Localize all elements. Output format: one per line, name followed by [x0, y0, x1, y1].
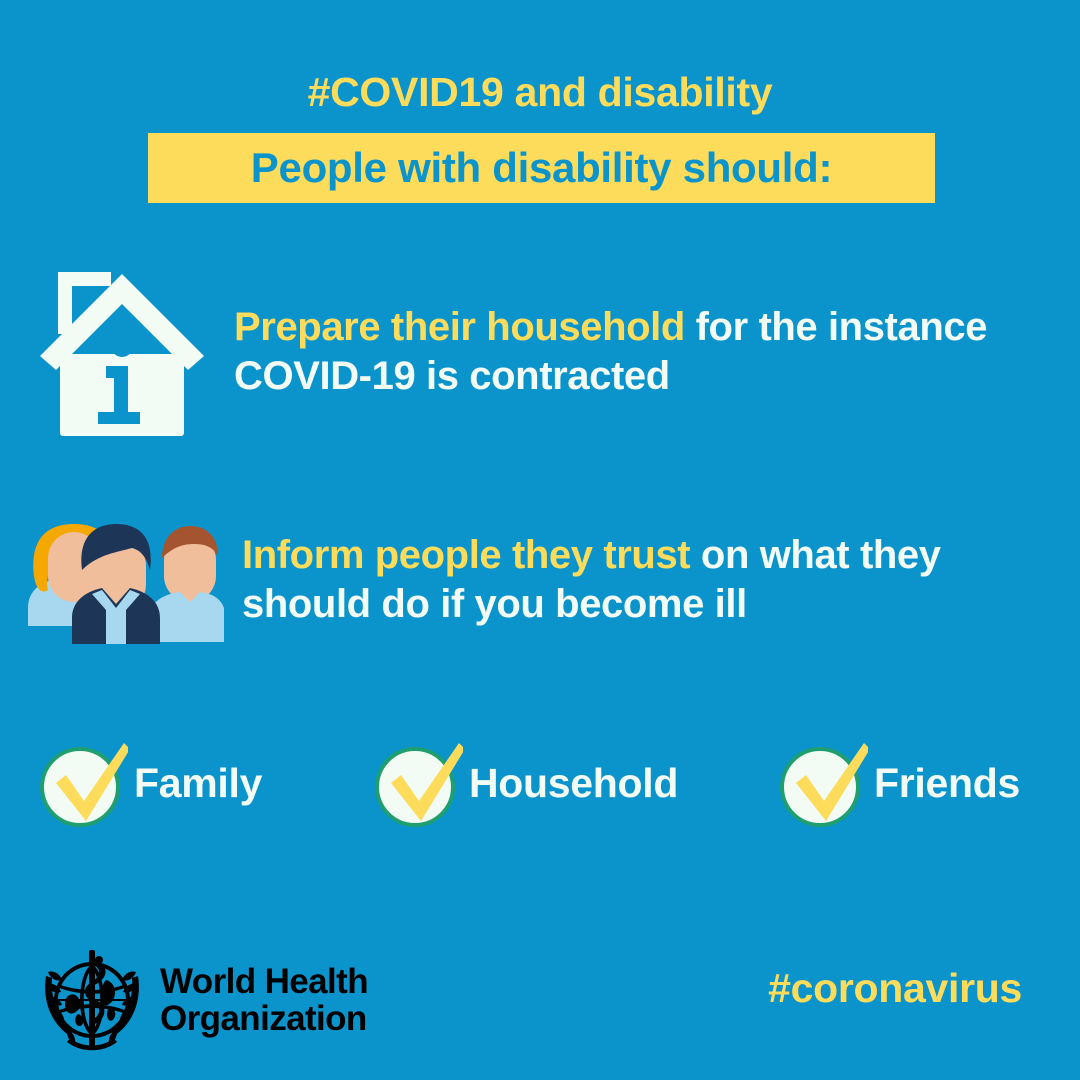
message-text: Prepare their household for the instance…: [234, 303, 994, 401]
message-text: Inform people they trust on what they sh…: [242, 531, 1032, 629]
checklist-item-household: Household: [375, 733, 678, 833]
checklist-label: Family: [134, 763, 262, 804]
who-logo: World Health Organization: [36, 946, 368, 1054]
who-line-2: Organization: [160, 1000, 368, 1037]
message-row-inform-people: Inform people they trust on what they sh…: [12, 505, 1042, 655]
yellow-checkmark-icon: [780, 739, 868, 827]
banner: People with disability should:: [148, 133, 935, 203]
checklist: Family Household Friends: [40, 733, 1050, 833]
house-with-info-icon: [36, 262, 208, 442]
checklist-item-friends: Friends: [780, 733, 1020, 833]
who-emblem-icon: [36, 946, 148, 1054]
checklist-label: Household: [469, 763, 678, 804]
who-wordmark: World Health Organization: [160, 963, 368, 1037]
message-row-prepare-household: Prepare their household for the instance…: [36, 262, 1046, 442]
yellow-checkmark-icon: [40, 739, 128, 827]
hashtag-coronavirus: #coronavirus: [768, 968, 1022, 1009]
yellow-checkmark-icon: [375, 739, 463, 827]
banner-text: People with disability should:: [148, 133, 935, 203]
who-line-1: World Health: [160, 963, 368, 1000]
three-people-icon: [12, 514, 224, 646]
message-highlight: Prepare their household: [234, 305, 685, 349]
checklist-label: Friends: [874, 763, 1020, 804]
message-highlight: Inform people they trust: [242, 533, 690, 577]
checklist-item-family: Family: [40, 733, 262, 833]
page-title: #COVID19 and disability: [0, 72, 1080, 113]
covid-disability-infographic: #COVID19 and disability People with disa…: [0, 0, 1080, 1080]
